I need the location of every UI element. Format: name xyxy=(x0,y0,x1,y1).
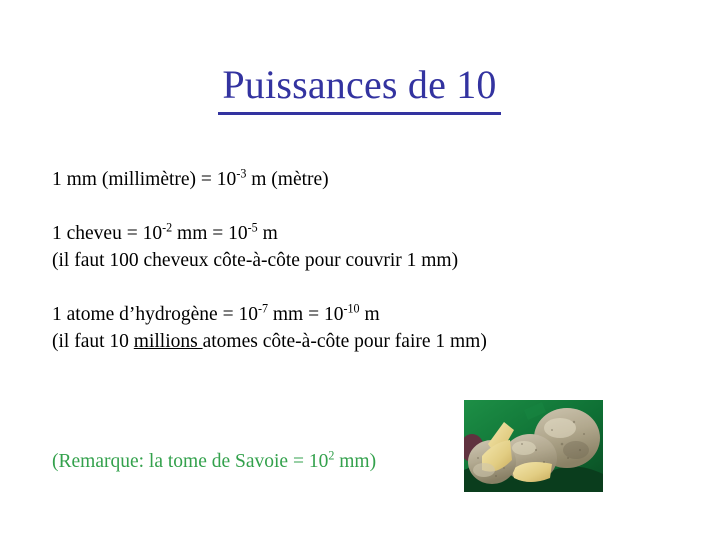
line-millimetre: 1 mm (millimètre) = 10-3 m (mètre) xyxy=(52,166,672,193)
line-cheveu-note: (il faut 100 cheveux côte-à-côte pour co… xyxy=(52,247,672,274)
line-atome-note: (il faut 10 millions atomes côte-à-côte … xyxy=(52,328,672,355)
remark-text-b: mm) xyxy=(334,451,376,472)
line-atome-text-c: m xyxy=(360,304,380,325)
remark-line: (Remarque: la tome de Savoie = 102 mm) xyxy=(52,448,376,475)
spacer xyxy=(52,274,672,301)
line-atome-note-text-a: (il faut 10 xyxy=(52,331,134,352)
slide: Puissances de 10 1 mm (millimètre) = 10-… xyxy=(0,0,719,539)
line-atome-note-emphasis: millions xyxy=(134,331,203,352)
line-cheveu-text-c: m xyxy=(258,223,278,244)
line-atome-text-b: mm = 10 xyxy=(268,304,343,325)
line-atome-exponent-1: -7 xyxy=(258,302,268,316)
line-millimetre-text-b: m (mètre) xyxy=(246,169,328,190)
spacer xyxy=(52,193,672,220)
line-cheveu-exponent-2: -5 xyxy=(248,221,258,235)
slide-body: 1 mm (millimètre) = 10-3 m (mètre) 1 che… xyxy=(52,166,672,355)
line-atome-text-a: 1 atome d’hydrogène = 10 xyxy=(52,304,258,325)
line-atome-exponent-2: -10 xyxy=(343,302,359,316)
line-atome-note-text-b: atomes côte-à-côte pour faire 1 mm) xyxy=(203,331,487,352)
page-title: Puissances de 10 xyxy=(218,62,500,115)
cheese-photo-graphic xyxy=(464,400,603,492)
line-cheveu-text-a: 1 cheveu = 10 xyxy=(52,223,162,244)
title-container: Puissances de 10 xyxy=(0,62,719,115)
line-cheveu: 1 cheveu = 10-2 mm = 10-5 m xyxy=(52,220,672,247)
tomme-de-savoie-photo xyxy=(464,400,603,492)
line-cheveu-exponent-1: -2 xyxy=(162,221,172,235)
line-millimetre-exponent: -3 xyxy=(236,167,246,181)
remark-text-a: (Remarque: la tome de Savoie = 10 xyxy=(52,451,328,472)
line-cheveu-text-b: mm = 10 xyxy=(172,223,247,244)
line-atome: 1 atome d’hydrogène = 10-7 mm = 10-10 m xyxy=(52,301,672,328)
line-millimetre-text-a: 1 mm (millimètre) = 10 xyxy=(52,169,236,190)
